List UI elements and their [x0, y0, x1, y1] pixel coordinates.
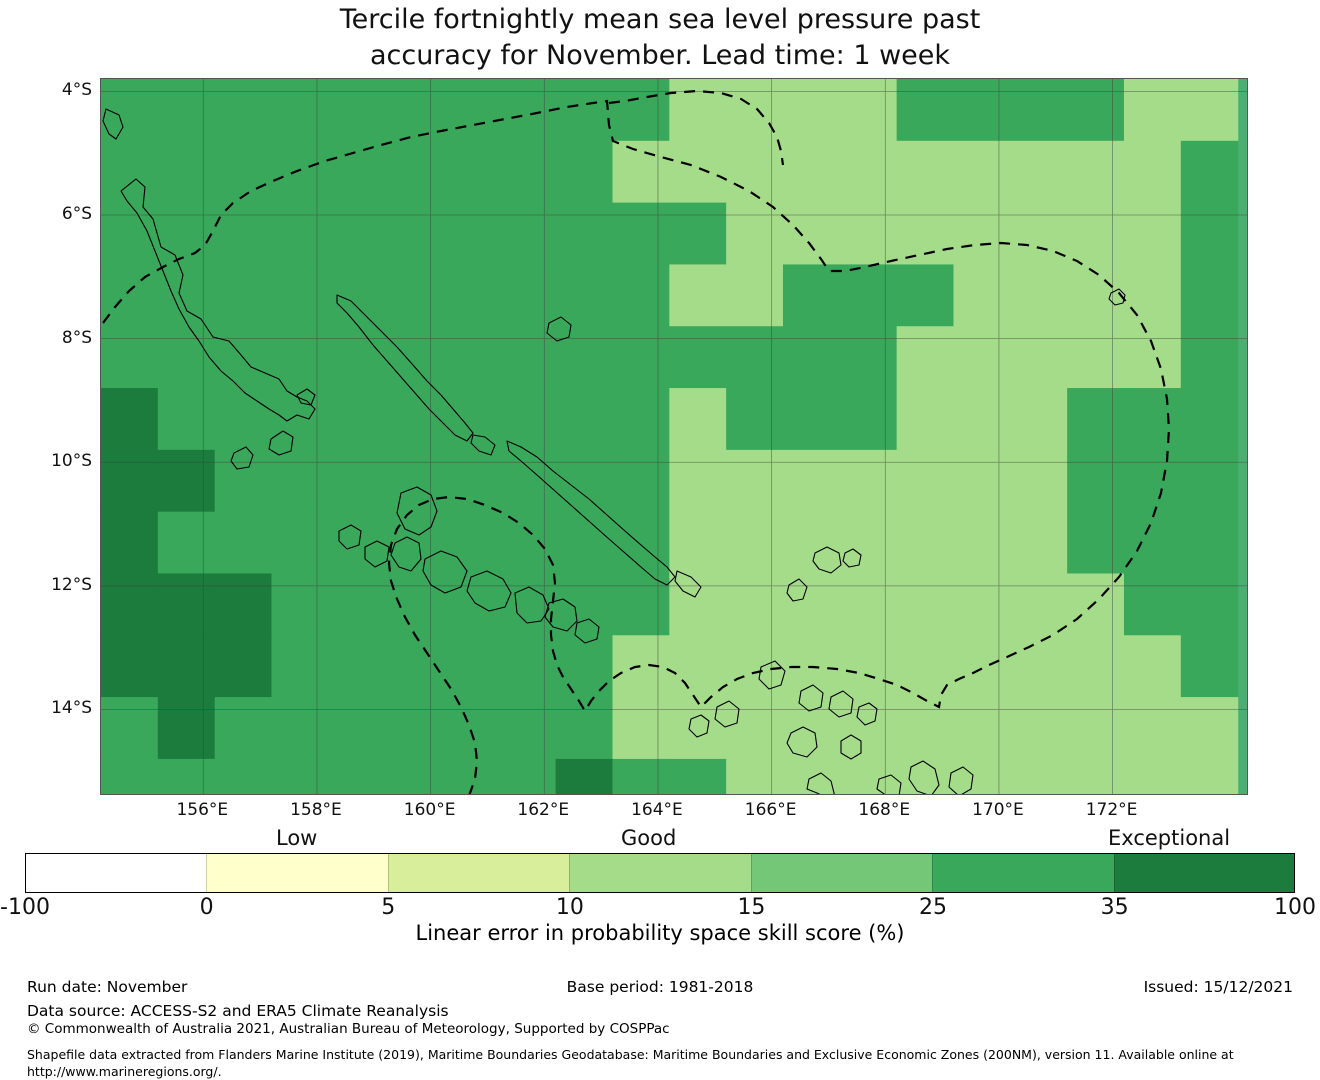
heatmap-cell	[783, 79, 840, 141]
heatmap-cell	[1181, 573, 1238, 635]
heatmap-cell	[1067, 326, 1124, 388]
y-axis-tick-label: 12°S	[0, 575, 92, 595]
colorbar-category-exceptional: Exceptional	[1108, 826, 1230, 850]
heatmap-cell	[215, 697, 272, 759]
heatmap-cell	[1010, 203, 1067, 265]
heatmap-cell	[101, 326, 158, 388]
heatmap-cell	[1124, 450, 1181, 512]
heatmap-cell	[897, 326, 954, 388]
heatmap-cell	[1124, 697, 1181, 759]
heatmap-cell	[669, 450, 726, 512]
heatmap-cell	[840, 635, 897, 697]
x-axis-tick-label: 164°E	[597, 800, 717, 820]
heatmap-cell	[783, 512, 840, 574]
heatmap-cell	[612, 635, 669, 697]
heatmap-cell	[953, 635, 1010, 697]
heatmap-cell	[1124, 326, 1181, 388]
heatmap-cell	[215, 635, 272, 697]
heatmap-cell	[1010, 635, 1067, 697]
heatmap-cell	[1010, 512, 1067, 574]
heatmap-cell	[726, 264, 783, 326]
heatmap-cell	[556, 388, 613, 450]
heatmap-cell	[1067, 635, 1124, 697]
heatmap-cell	[499, 264, 556, 326]
heatmap-cell	[1124, 759, 1181, 795]
heatmap-cell	[840, 141, 897, 203]
heatmap-cell	[272, 697, 329, 759]
title-line-2: accuracy for November. Lead time: 1 week	[0, 38, 1320, 74]
heatmap-cell	[726, 450, 783, 512]
heatmap-cell	[272, 264, 329, 326]
heatmap-cell	[556, 635, 613, 697]
heatmap-cell	[328, 573, 385, 635]
heatmap-cell	[272, 512, 329, 574]
heatmap-cell	[328, 697, 385, 759]
heatmap-cell	[442, 573, 499, 635]
heatmap-cell	[897, 697, 954, 759]
heatmap-cell	[669, 759, 726, 795]
heatmap-cell	[726, 512, 783, 574]
heatmap-cell	[158, 512, 215, 574]
heatmap-cell	[556, 697, 613, 759]
heatmap-cell	[669, 141, 726, 203]
heatmap-cell	[1010, 264, 1067, 326]
heatmap-cell	[669, 79, 726, 141]
heatmap-cell	[897, 264, 954, 326]
heatmap-cell	[669, 512, 726, 574]
heatmap-cell	[556, 264, 613, 326]
heatmap-cell	[101, 512, 158, 574]
heatmap-cell	[726, 203, 783, 265]
heatmap-cell	[1067, 759, 1124, 795]
heatmap-cell	[385, 512, 442, 574]
heatmap-cell	[953, 573, 1010, 635]
colorbar[interactable]	[25, 853, 1295, 893]
heatmap-cell	[783, 326, 840, 388]
heatmap-cell	[612, 573, 669, 635]
heatmap-cell	[328, 326, 385, 388]
colorbar-segment	[388, 854, 569, 892]
heatmap-cell	[158, 635, 215, 697]
heatmap-cell	[783, 759, 840, 795]
heatmap-cell	[840, 388, 897, 450]
heatmap-cell	[669, 635, 726, 697]
heatmap-cell	[1010, 79, 1067, 141]
heatmap-cell	[669, 573, 726, 635]
heatmap-cell	[612, 512, 669, 574]
colorbar-segment	[932, 854, 1113, 892]
x-axis-tick-label: 160°E	[370, 800, 490, 820]
heatmap-cell	[328, 141, 385, 203]
heatmap-cell	[612, 759, 669, 795]
heatmap-cell	[385, 697, 442, 759]
heatmap-cell	[612, 450, 669, 512]
heatmap-cell	[499, 759, 556, 795]
heatmap-cell	[158, 388, 215, 450]
heatmap-cell	[840, 326, 897, 388]
heatmap-cell	[215, 759, 272, 795]
heatmap-cell	[953, 326, 1010, 388]
heatmap-cell	[101, 388, 158, 450]
colorbar-tick-label: -100	[0, 895, 85, 920]
heatmap-cell	[215, 79, 272, 141]
colorbar-tick-label: 35	[1055, 895, 1175, 920]
heatmap-cell	[1067, 450, 1124, 512]
heatmap-cell	[1181, 264, 1238, 326]
colorbar-category-low: Low	[276, 826, 317, 850]
heatmap-cell	[726, 759, 783, 795]
heatmap-cell	[158, 141, 215, 203]
heatmap-cell	[556, 573, 613, 635]
heatmap-cell	[1181, 203, 1238, 265]
heatmap-cell	[385, 573, 442, 635]
heatmap-cell	[612, 264, 669, 326]
y-axis-tick-label: 6°S	[0, 204, 92, 224]
heatmap-cell	[328, 635, 385, 697]
heatmap-cell	[953, 264, 1010, 326]
heatmap-cell	[1124, 388, 1181, 450]
heatmap-cell	[442, 326, 499, 388]
footer-copyright: © Commonwealth of Australia 2021, Austra…	[27, 1021, 670, 1037]
heatmap-cell	[1067, 388, 1124, 450]
colorbar-segment	[751, 854, 932, 892]
heatmap-cell	[669, 264, 726, 326]
y-axis-tick-label: 14°S	[0, 698, 92, 718]
colorbar-tick-label: 15	[691, 895, 811, 920]
heatmap-cell	[953, 79, 1010, 141]
heatmap-cell	[101, 450, 158, 512]
heatmap-cell	[1124, 141, 1181, 203]
x-axis-tick-label: 168°E	[824, 800, 944, 820]
heatmap-cell	[897, 573, 954, 635]
x-axis-tick-label: 170°E	[938, 800, 1058, 820]
heatmap-cell	[385, 326, 442, 388]
heatmap-cell	[1067, 203, 1124, 265]
heatmap-cell	[385, 264, 442, 326]
heatmap-cell	[158, 450, 215, 512]
heatmap-cell	[385, 635, 442, 697]
heatmap-cell	[328, 512, 385, 574]
heatmap-cell	[612, 203, 669, 265]
footer-data-source: Data source: ACCESS-S2 and ERA5 Climate …	[27, 1002, 449, 1020]
colorbar-segment	[26, 854, 206, 892]
heatmap-cell	[953, 759, 1010, 795]
heatmap-cell	[669, 203, 726, 265]
heatmap-cell	[897, 141, 954, 203]
colorbar-tick-label: 10	[510, 895, 630, 920]
heatmap-cell	[272, 326, 329, 388]
heatmap-cell	[953, 141, 1010, 203]
x-axis-tick-label: 158°E	[256, 800, 376, 820]
heatmap-cell	[783, 141, 840, 203]
heatmap-cell	[442, 450, 499, 512]
heatmap-cell	[556, 759, 613, 795]
heatmap-cell	[499, 512, 556, 574]
heatmap-cell	[556, 79, 613, 141]
heatmap-cell	[499, 326, 556, 388]
heatmap-cell	[101, 203, 158, 265]
heatmap-cell	[215, 141, 272, 203]
heatmap-cell	[1181, 141, 1238, 203]
heatmap-cell	[442, 697, 499, 759]
heatmap-cell	[101, 635, 158, 697]
heatmap-cell	[272, 388, 329, 450]
colorbar-tick-label: 0	[147, 895, 267, 920]
heatmap-cell	[328, 450, 385, 512]
x-axis-tick-label: 172°E	[1052, 800, 1172, 820]
heatmap-cell	[783, 264, 840, 326]
y-axis-tick-label: 10°S	[0, 451, 92, 471]
heatmap-cell	[726, 388, 783, 450]
heatmap-cell	[1124, 264, 1181, 326]
heatmap-cell	[556, 326, 613, 388]
footer-issued-date: Issued: 15/12/2021	[1144, 978, 1293, 996]
heatmap-cell	[1124, 79, 1181, 141]
heatmap-cell	[442, 141, 499, 203]
heatmap-cell	[1124, 635, 1181, 697]
heatmap-cell	[272, 759, 329, 795]
heatmap-cell	[101, 759, 158, 795]
heatmap-cell	[953, 450, 1010, 512]
heatmap-cell	[158, 573, 215, 635]
heatmap-cell	[385, 203, 442, 265]
heatmap-cell	[1067, 79, 1124, 141]
heatmap-cell	[215, 388, 272, 450]
heatmap-cell	[158, 264, 215, 326]
heatmap-cell	[612, 79, 669, 141]
heatmap-cell	[328, 759, 385, 795]
heatmap-cell	[215, 512, 272, 574]
heatmap-cell	[499, 203, 556, 265]
map-canvas	[101, 79, 1248, 795]
y-axis-tick-label: 8°S	[0, 328, 92, 348]
heatmap-cell	[499, 141, 556, 203]
colorbar-segment	[1114, 854, 1294, 892]
heatmap-cell	[1181, 450, 1238, 512]
heatmap-cell	[556, 203, 613, 265]
heatmap-cell	[840, 203, 897, 265]
heatmap-cell	[840, 512, 897, 574]
title-line-1: Tercile fortnightly mean sea level press…	[0, 2, 1320, 38]
heatmap-cell	[385, 79, 442, 141]
heatmap-cell	[215, 203, 272, 265]
heatmap-cell	[158, 79, 215, 141]
heatmap-cell	[1124, 203, 1181, 265]
heatmap-cell	[158, 326, 215, 388]
heatmap-cell	[215, 573, 272, 635]
heatmap-cell	[1067, 573, 1124, 635]
heatmap-cell	[272, 450, 329, 512]
colorbar-segment	[569, 854, 750, 892]
colorbar-tick-label: 5	[328, 895, 448, 920]
heatmap-cell	[1181, 388, 1238, 450]
map-plot-area[interactable]	[100, 78, 1248, 795]
heatmap-cell	[272, 79, 329, 141]
heatmap-cell	[101, 573, 158, 635]
heatmap-cell	[1010, 759, 1067, 795]
heatmap-cell	[1181, 79, 1238, 141]
x-axis-tick-label: 166°E	[711, 800, 831, 820]
heatmap-cell	[499, 697, 556, 759]
x-axis-tick-label: 156°E	[142, 800, 262, 820]
heatmap-cell	[726, 326, 783, 388]
heatmap-cell	[499, 79, 556, 141]
heatmap-cell	[272, 141, 329, 203]
heatmap-cell	[272, 635, 329, 697]
heatmap-cell	[328, 203, 385, 265]
footer-shapefile-note: Shapefile data extracted from Flanders M…	[27, 1046, 1277, 1080]
heatmap-cell	[442, 203, 499, 265]
heatmap-cell	[272, 573, 329, 635]
heatmap-cell	[897, 79, 954, 141]
heatmap-cell	[840, 264, 897, 326]
heatmap-cell	[272, 203, 329, 265]
heatmap-cell	[953, 512, 1010, 574]
heatmap-cell	[442, 264, 499, 326]
x-axis-tick-label: 162°E	[483, 800, 603, 820]
heatmap-cell	[897, 512, 954, 574]
heatmap-cell	[1010, 388, 1067, 450]
heatmap-cell	[1181, 697, 1238, 759]
page-title: Tercile fortnightly mean sea level press…	[0, 2, 1320, 74]
heatmap-cell	[840, 697, 897, 759]
heatmap-cell	[1181, 512, 1238, 574]
heatmap-cell	[101, 697, 158, 759]
heatmap-cell	[612, 388, 669, 450]
heatmap-cell	[1067, 512, 1124, 574]
heatmap-cell	[499, 450, 556, 512]
heatmap-cell	[953, 203, 1010, 265]
heatmap-cell	[897, 203, 954, 265]
heatmap-cell	[783, 203, 840, 265]
heatmap-cell	[783, 450, 840, 512]
heatmap-cell	[612, 326, 669, 388]
colorbar-tick-label: 25	[873, 895, 993, 920]
colorbar-category-good: Good	[621, 826, 676, 850]
heatmap-cell	[726, 573, 783, 635]
heatmap-cell	[328, 388, 385, 450]
heatmap-cell	[840, 759, 897, 795]
heatmap-cell	[1010, 573, 1067, 635]
heatmap-cell	[215, 450, 272, 512]
heatmap-cell	[101, 264, 158, 326]
heatmap-cell	[840, 450, 897, 512]
heatmap-cell	[1010, 141, 1067, 203]
heatmap-cell	[442, 512, 499, 574]
heatmap-cell	[612, 697, 669, 759]
colorbar-tick-label: 100	[1235, 895, 1320, 920]
heatmap-cell	[669, 326, 726, 388]
heatmap-cell	[840, 79, 897, 141]
heatmap-cell	[1067, 141, 1124, 203]
heatmap-cell	[1181, 759, 1238, 795]
heatmap-cell	[726, 635, 783, 697]
heatmap-cell	[1124, 573, 1181, 635]
heatmap-cell	[556, 512, 613, 574]
heatmap-cell	[101, 141, 158, 203]
heatmap-cell	[783, 388, 840, 450]
y-axis-tick-label: 4°S	[0, 80, 92, 100]
heatmap-cell	[385, 759, 442, 795]
heatmap-cell	[726, 697, 783, 759]
heatmap-cell	[385, 388, 442, 450]
heatmap-cell	[612, 141, 669, 203]
heatmap-cell	[328, 79, 385, 141]
heatmap-cell	[1010, 697, 1067, 759]
heatmap-cells	[101, 79, 1238, 795]
heatmap-cell	[1181, 326, 1238, 388]
heatmap-cell	[669, 388, 726, 450]
heatmap-cell	[1010, 450, 1067, 512]
heatmap-cell	[1181, 635, 1238, 697]
heatmap-cell	[556, 450, 613, 512]
heatmap-cell	[499, 635, 556, 697]
colorbar-axis-label: Linear error in probability space skill …	[0, 921, 1320, 945]
heatmap-cell	[1010, 326, 1067, 388]
heatmap-cell	[953, 697, 1010, 759]
heatmap-cell	[215, 264, 272, 326]
heatmap-cell	[953, 388, 1010, 450]
footer-base-period: Base period: 1981-2018	[0, 978, 1320, 996]
heatmap-cell	[897, 388, 954, 450]
heatmap-cell	[158, 203, 215, 265]
heatmap-cell	[556, 141, 613, 203]
heatmap-cell	[897, 759, 954, 795]
heatmap-cell	[385, 141, 442, 203]
heatmap-cell	[1124, 512, 1181, 574]
heatmap-cell	[158, 697, 215, 759]
colorbar-segment	[206, 854, 387, 892]
heatmap-cell	[158, 759, 215, 795]
heatmap-cell	[840, 573, 897, 635]
heatmap-cell	[897, 450, 954, 512]
heatmap-cell	[442, 79, 499, 141]
heatmap-cell	[1067, 697, 1124, 759]
